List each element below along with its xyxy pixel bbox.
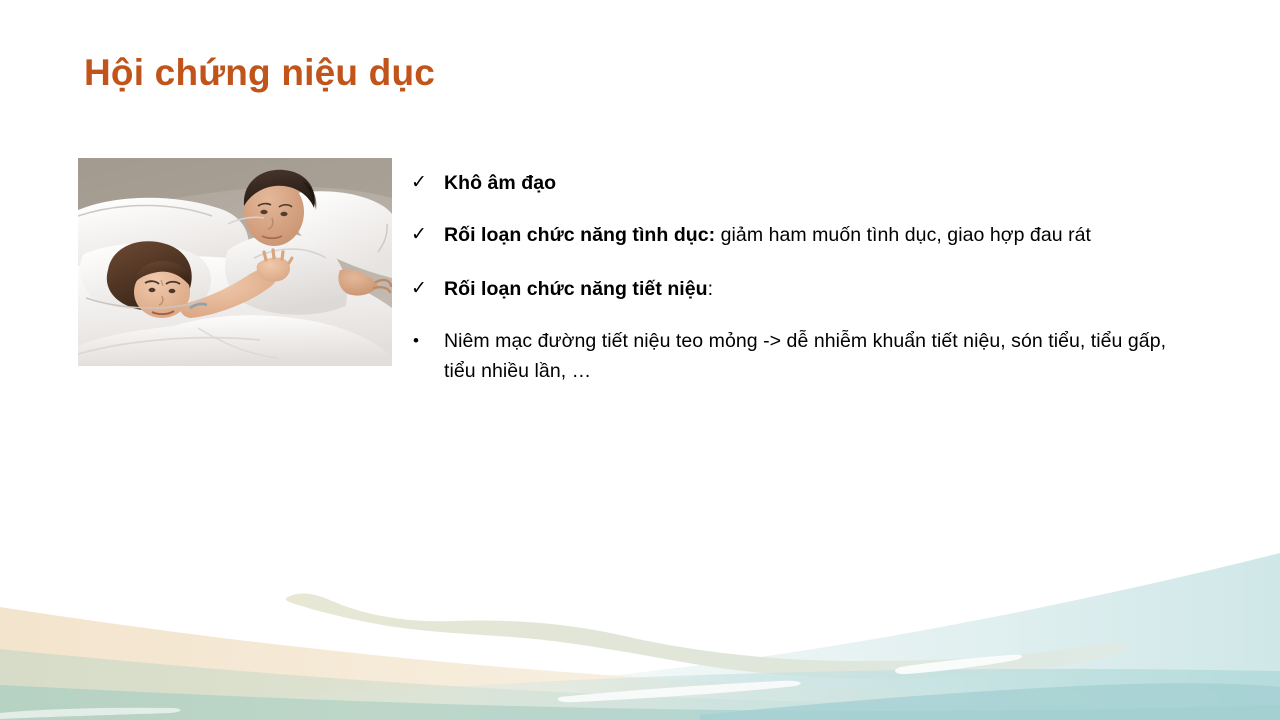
list-item-lead: Khô âm đạo (444, 172, 556, 194)
couple-in-bed-photo (78, 158, 392, 366)
list-item-lead: Rối loạn chức năng tình dục: (444, 224, 715, 246)
list-item: ✓ Rối loạn chức năng tiết niệu: (408, 274, 1198, 304)
list-item-rest: giảm ham muốn tình dục, giao hợp đau rát (715, 224, 1091, 246)
check-icon: ✓ (408, 220, 444, 250)
list-item: ✓ Khô âm đạo (408, 168, 1198, 198)
list-item-rest: : (708, 278, 713, 300)
list-item-text: Rối loạn chức năng tiết niệu: (444, 274, 1198, 304)
check-icon: ✓ (408, 274, 444, 304)
wave-footer-decoration (0, 545, 1280, 720)
list-item-text: Niêm mạc đường tiết niệu teo mỏng -> dễ … (444, 326, 1198, 386)
list-item: • Niêm mạc đường tiết niệu teo mỏng -> d… (408, 326, 1198, 386)
list-item-text: Khô âm đạo (444, 168, 1198, 198)
check-icon: ✓ (408, 168, 444, 198)
slide-canvas: Hội chứng niệu dục (0, 0, 1280, 720)
list-item-lead: Rối loạn chức năng tiết niệu (444, 278, 708, 300)
list-item-text: Rối loạn chức năng tình dục: giảm ham mu… (444, 220, 1198, 250)
list-item: ✓ Rối loạn chức năng tình dục: giảm ham … (408, 220, 1198, 250)
dot-bullet-icon: • (408, 326, 444, 356)
bullet-list: ✓ Khô âm đạo ✓ Rối loạn chức năng tình d… (408, 168, 1198, 386)
page-title: Hội chứng niệu dục (84, 50, 435, 96)
list-item-rest: Niêm mạc đường tiết niệu teo mỏng -> dễ … (444, 330, 1166, 382)
